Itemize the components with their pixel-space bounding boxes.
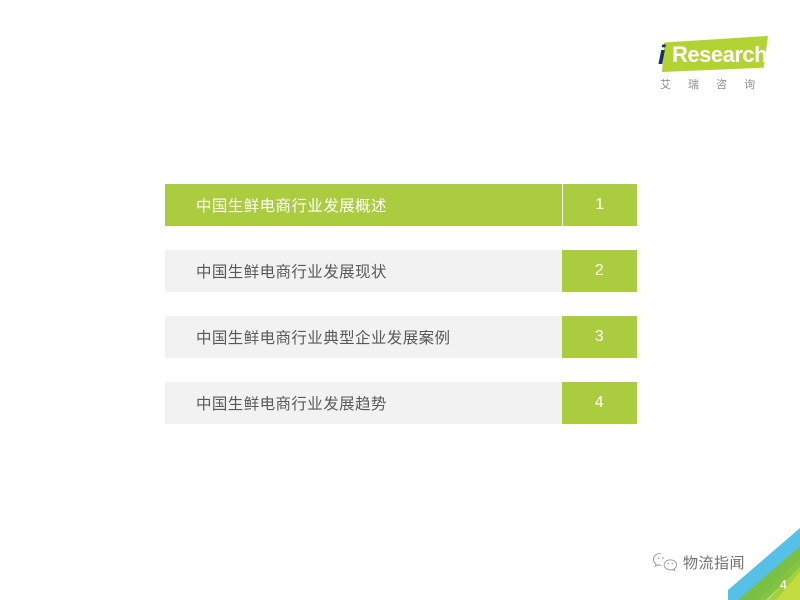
agenda-item-2-title: 中国生鲜电商行业发展现状 bbox=[165, 250, 562, 292]
slide-canvas: i Research 艾 瑞 咨 询 中国生鲜电商行业发展概述 1 中国生鲜电商… bbox=[0, 0, 800, 600]
agenda-item-1-number: 1 bbox=[562, 184, 637, 226]
iresearch-logo: i Research 艾 瑞 咨 询 bbox=[650, 36, 772, 98]
agenda-item-4[interactable]: 中国生鲜电商行业发展趋势 4 bbox=[165, 382, 637, 424]
logo-wordmark: Research bbox=[672, 41, 767, 69]
agenda-list: 中国生鲜电商行业发展概述 1 中国生鲜电商行业发展现状 2 中国生鲜电商行业典型… bbox=[165, 184, 637, 424]
logo-subtitle: 艾 瑞 咨 询 bbox=[660, 76, 762, 92]
logo-mark: i Research bbox=[650, 36, 768, 74]
agenda-item-1-title: 中国生鲜电商行业发展概述 bbox=[165, 184, 562, 226]
wechat-icon bbox=[652, 551, 678, 573]
agenda-item-1[interactable]: 中国生鲜电商行业发展概述 1 bbox=[165, 184, 637, 226]
logo-letter-i: i bbox=[658, 40, 665, 70]
agenda-item-3-title: 中国生鲜电商行业典型企业发展案例 bbox=[165, 316, 562, 358]
agenda-item-4-number: 4 bbox=[562, 382, 637, 424]
agenda-item-2-number: 2 bbox=[562, 250, 637, 292]
page-number: 4 bbox=[780, 578, 787, 592]
agenda-item-4-title: 中国生鲜电商行业发展趋势 bbox=[165, 382, 562, 424]
agenda-item-3[interactable]: 中国生鲜电商行业典型企业发展案例 3 bbox=[165, 316, 637, 358]
corner-ribbon: 4 bbox=[728, 528, 800, 600]
agenda-item-3-number: 3 bbox=[562, 316, 637, 358]
agenda-item-2[interactable]: 中国生鲜电商行业发展现状 2 bbox=[165, 250, 637, 292]
